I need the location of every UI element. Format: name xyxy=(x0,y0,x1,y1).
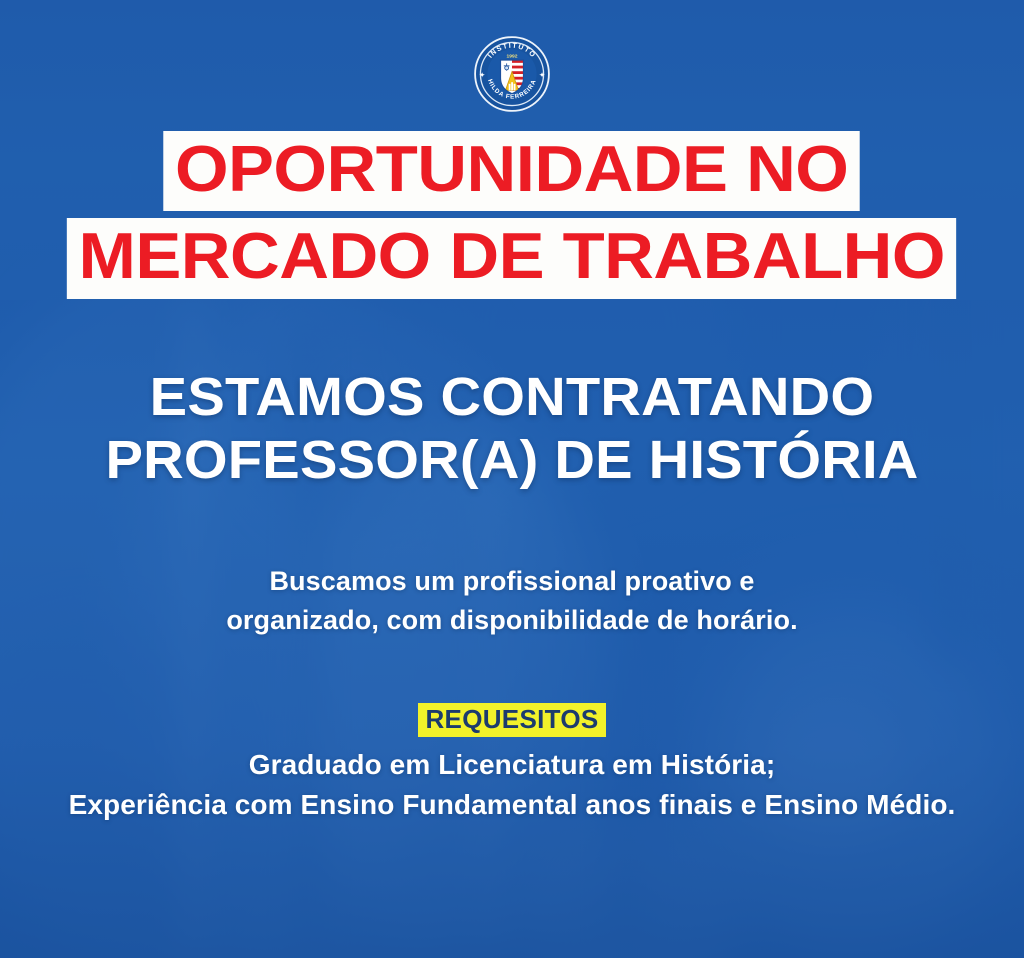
svg-text:✦: ✦ xyxy=(479,70,485,79)
institute-seal-icon: INSTITUTO HILDA FERREIRA ✦ ✦ 1992 xyxy=(471,33,553,115)
description: Buscamos um profissional proativo e orga… xyxy=(0,562,1024,640)
requirements-title: REQUESITOS xyxy=(418,703,605,737)
job-vacancy-poster: INSTITUTO HILDA FERREIRA ✦ ✦ 1992 xyxy=(0,0,1024,958)
headline-line-1-text: OPORTUNIDADE NO xyxy=(164,131,861,211)
requirements-list: Graduado em Licenciatura em História; Ex… xyxy=(0,745,1024,825)
headline: OPORTUNIDADE NO MERCADO DE TRABALHO xyxy=(0,131,1024,299)
description-line-1: Buscamos um profissional proativo e xyxy=(0,562,1024,601)
svg-text:✦: ✦ xyxy=(539,70,545,79)
subheadline: ESTAMOS CONTRATANDO PROFESSOR(A) DE HIST… xyxy=(0,366,1024,492)
headline-line-2-text: MERCADO DE TRABALHO xyxy=(67,218,957,298)
description-line-2: organizado, com disponibilidade de horár… xyxy=(0,601,1024,640)
headline-line-2: MERCADO DE TRABALHO xyxy=(0,218,1024,298)
requirement-item: Graduado em Licenciatura em História; xyxy=(0,745,1024,785)
headline-line-1: OPORTUNIDADE NO xyxy=(0,131,1024,211)
svg-text:1992: 1992 xyxy=(507,54,518,60)
requirements-section: REQUESITOS Graduado em Licenciatura em H… xyxy=(0,703,1024,825)
subheadline-line-2: PROFESSOR(A) DE HISTÓRIA xyxy=(0,429,1024,492)
institute-logo: INSTITUTO HILDA FERREIRA ✦ ✦ 1992 xyxy=(471,33,553,115)
subheadline-line-1: ESTAMOS CONTRATANDO xyxy=(0,366,1024,429)
requirement-item: Experiência com Ensino Fundamental anos … xyxy=(0,785,1024,825)
